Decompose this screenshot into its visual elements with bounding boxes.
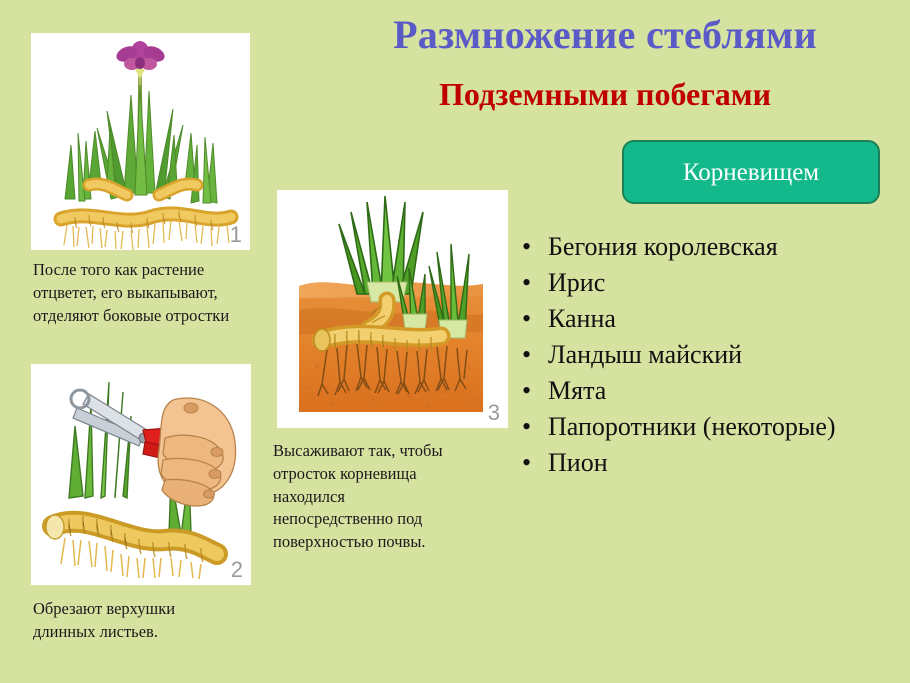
list-item-label: Ирис [548, 268, 605, 298]
soil-cross-section-illustration [277, 190, 508, 428]
iris-plant-illustration [31, 33, 250, 250]
list-item-label: Ландыш майский [548, 340, 742, 370]
caption-line: длинных листьев. [33, 621, 283, 644]
pruning-shears-illustration [31, 364, 251, 585]
figure-3-planted-rhizome: 3 [277, 190, 508, 428]
list-item: • Ирис [512, 268, 910, 304]
list-item-label: Мята [548, 376, 606, 406]
list-item-label: Пион [548, 448, 608, 478]
bullet-icon: • [512, 376, 548, 406]
bullet-icon: • [512, 412, 548, 442]
list-item-label: Бегония королевская [548, 232, 778, 262]
caption-line: отцветет, его выкапывают, [33, 282, 295, 305]
page-title: Размножение стеблями [300, 14, 910, 56]
caption-line: Высаживают так, чтобы [273, 440, 498, 463]
list-item: • Бегония королевская [512, 232, 910, 268]
caption-figure-1: После того как растение отцветет, его вы… [33, 259, 295, 327]
rhizome-category-button[interactable]: Корневищем [622, 140, 880, 204]
bullet-icon: • [512, 340, 548, 370]
list-item: • Канна [512, 304, 910, 340]
list-item-label: Папоротники (некоторые) [548, 412, 836, 442]
figure-2-cutting-leaves: 2 [31, 364, 251, 585]
figure-1-iris-rhizome: 1 [31, 33, 250, 250]
caption-figure-3: Высаживают так, чтобы отросток корневища… [273, 440, 498, 554]
bullet-icon: • [512, 268, 548, 298]
caption-line: отделяют боковые отростки [33, 305, 295, 328]
caption-line: непосредственно под [273, 508, 498, 531]
figure-number: 2 [231, 557, 243, 583]
page-subtitle: Подземными побегами [300, 78, 910, 112]
bullet-icon: • [512, 304, 548, 334]
figure-number: 3 [488, 400, 500, 426]
caption-figure-2: Обрезают верхушки длинных листьев. [33, 598, 283, 644]
caption-line: поверхностью почвы. [273, 531, 498, 554]
list-item: • Мята [512, 376, 910, 412]
list-item: • Пион [512, 448, 910, 484]
list-item-label: Канна [548, 304, 616, 334]
caption-line: После того как растение [33, 259, 295, 282]
caption-line: отросток корневища [273, 463, 498, 486]
plant-list: • Бегония королевская • Ирис • Канна • Л… [512, 232, 910, 484]
rhizome-category-label: Корневищем [683, 160, 819, 185]
figure-number: 1 [230, 222, 242, 248]
bullet-icon: • [512, 232, 548, 262]
caption-line: Обрезают верхушки [33, 598, 283, 621]
slide-root: Размножение стеблями Подземными побегами… [0, 0, 910, 683]
list-item: • Ландыш майский [512, 340, 910, 376]
bullet-icon: • [512, 448, 548, 478]
caption-line: находился [273, 486, 498, 509]
list-item: • Папоротники (некоторые) [512, 412, 910, 448]
